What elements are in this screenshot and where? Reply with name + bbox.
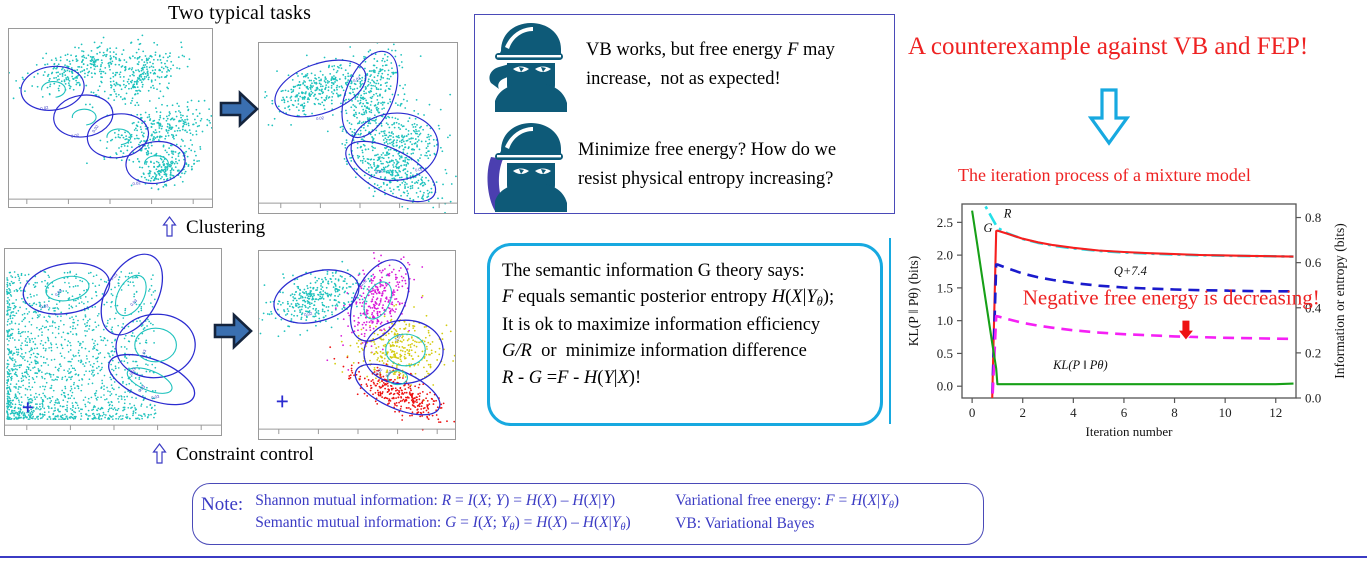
caption-clustering-label: Clustering [186,217,265,238]
svg-text:0.02: 0.02 [71,132,80,138]
up-arrow-icon [162,216,177,237]
flow-arrow-right-constraint [212,310,254,352]
counterexample-heading: A counterexample against VB and FEP! [908,33,1308,61]
flow-arrow-right-clustering [218,88,260,130]
commentary-box: VB works, but free energy F may increase… [474,14,895,214]
svg-text:0.03: 0.03 [54,287,64,297]
note-column-shannon: Shannon mutual information: R = I(X; Y) … [255,490,675,536]
svg-text:0.03: 0.03 [109,272,119,282]
up-arrow-icon [152,443,167,464]
note-column-vb: Variational free energy: F = H(X|Yθ) VB:… [675,490,899,536]
svg-text:0.02: 0.02 [375,168,383,174]
theory-line-2: F equals semantic posterior entropy H(X|… [502,284,872,312]
caption-constraint-label: Constraint control [176,444,314,465]
theory-line-1: The semantic information G theory says: [502,258,872,284]
theory-line-5: R - G =F - H(Y|X)! [502,365,872,391]
note-line-free-energy: Variational free energy: F = H(X|Yθ) [675,490,899,513]
svg-text:0.03: 0.03 [129,297,139,307]
note-line-semantic: Semantic mutual information: G = I(X; Yθ… [255,512,675,535]
quote-2-line-2: resist physical entropy increasing? [578,165,836,194]
theory-line-4: G/R or minimize information difference [502,338,872,364]
note-label: Note: [201,490,255,519]
iteration-process-chart[interactable]: 024681012Iteration number0.00.51.01.52.0… [900,186,1355,456]
scatter-plot-constraint-converged[interactable]: 0.02 0.02 0.02 0.02 0.02 [258,250,456,440]
soldier-salute-icon [481,17,574,113]
frame-divider-footer [0,556,1367,558]
soldier-phone-icon [481,117,574,213]
scatter-plot-constraint-initial[interactable]: 0.03 0.03 0.03 0.03 0.03 0.03 0.03 0.03 [4,248,222,436]
semantic-theory-box: The semantic information G theory says: … [487,243,883,426]
quote-2-line-1: Minimize free energy? How do we [578,136,836,165]
svg-text:0.03: 0.03 [151,394,161,401]
chart-title: The iteration process of a mixture model [958,165,1251,186]
quote-row-2: Minimize free energy? How do we resist p… [475,115,894,215]
note-box: Note: Shannon mutual information: R = I(… [192,483,984,545]
quote-1-line-1: VB works, but free energy F may [586,36,835,65]
frame-divider-bottom [889,238,891,424]
caption-clustering-row: Clustering [162,216,265,239]
quote-1-line-2: increase, not as expected! [586,65,835,94]
caption-constraint-row: Constraint control [152,443,314,466]
scatter-plot-clustering-initial[interactable]: 0.02 0.02 0.02 0.02 [8,28,213,208]
down-arrow-icon [1088,88,1130,146]
scatter-plot-clustering-converged[interactable]: 0.02 0.02 0.02 0.02 [258,42,458,214]
note-line-shannon: Shannon mutual information: R = I(X; Y) … [255,490,675,512]
svg-text:0.03: 0.03 [40,303,49,309]
svg-text:0.02: 0.02 [132,180,141,186]
quote-text-2: Minimize free energy? How do we resist p… [574,136,842,193]
svg-text:0.02: 0.02 [316,115,324,121]
quote-row-1: VB works, but free energy F may increase… [475,15,894,115]
quote-text-1: VB works, but free energy F may increase… [574,36,841,93]
page-title-two-tasks: Two typical tasks [168,2,311,25]
note-line-vb: VB: Variational Bayes [675,513,899,535]
theory-line-3: It is ok to maximize information efficie… [502,312,872,338]
